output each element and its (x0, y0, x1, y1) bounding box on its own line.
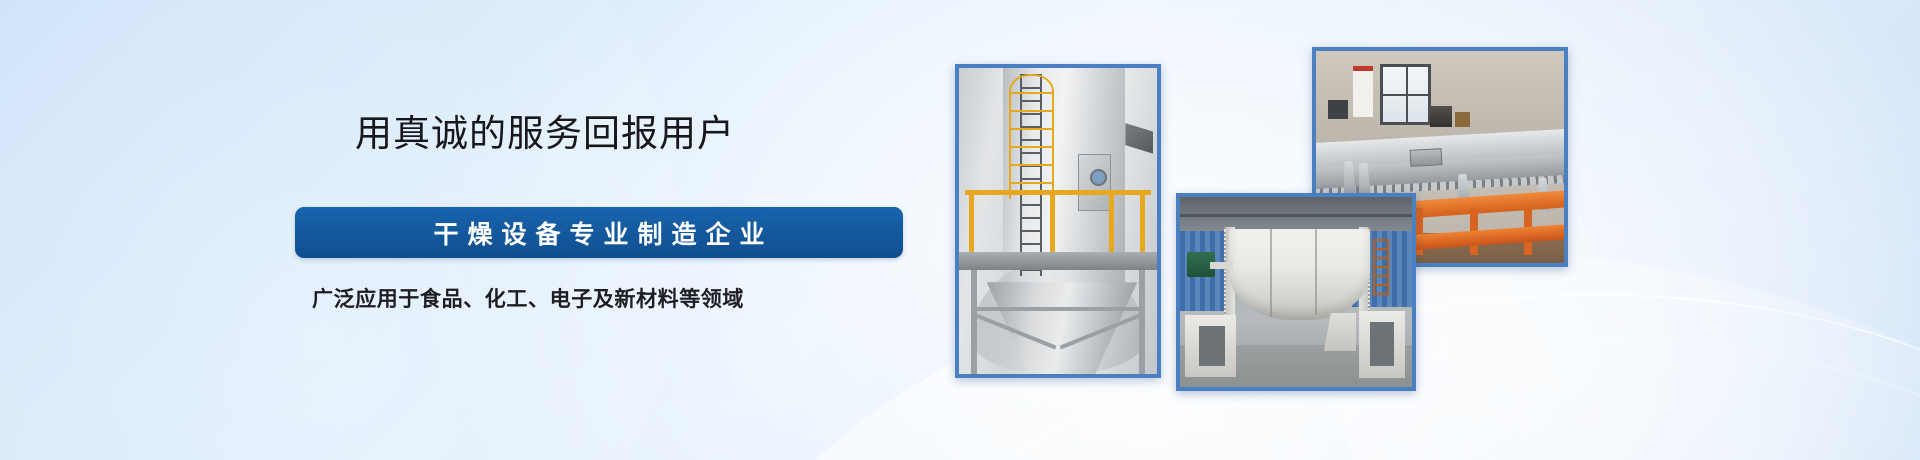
photo-spray-dryer-tower (955, 64, 1161, 378)
banner-headline: 用真诚的服务回报用户 (355, 112, 735, 156)
banner-copy-block: 用真诚的服务回报用户 干燥设备专业制造企业 广泛应用于食品、化工、电子及新材料等… (0, 0, 960, 460)
photo-ribbon-mixer (1176, 193, 1416, 391)
photo-spray-dryer-tower-image (959, 68, 1157, 374)
banner-tagline-text: 干燥设备专业制造企业 (424, 215, 773, 251)
banner-tagline-pill: 干燥设备专业制造企业 (295, 207, 903, 258)
photo-ribbon-mixer-image (1180, 197, 1412, 387)
hero-banner: 用真诚的服务回报用户 干燥设备专业制造企业 广泛应用于食品、化工、电子及新材料等… (0, 0, 1920, 460)
banner-subtitle: 广泛应用于食品、化工、电子及新材料等领域 (312, 283, 744, 313)
